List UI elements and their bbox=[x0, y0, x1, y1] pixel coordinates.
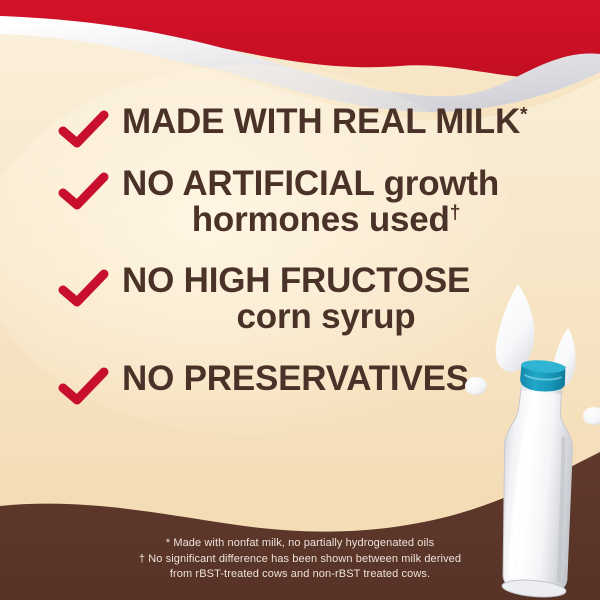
footnotes: * Made with nonfat milk, no partially hy… bbox=[0, 536, 600, 583]
promo-poster: MADE WITH REAL MILK* NO ARTIFICIAL growt… bbox=[0, 0, 600, 600]
check-icon bbox=[58, 104, 118, 150]
claim-line-2-text: hormones used bbox=[192, 200, 450, 239]
footnote-line-2: † No significant difference has been sho… bbox=[0, 552, 600, 568]
claim-line-1: MADE WITH REAL MILK* bbox=[122, 104, 600, 140]
footnote-marker-asterisk: * bbox=[520, 104, 527, 125]
check-icon bbox=[58, 166, 118, 212]
claim-line-2: hormones used† bbox=[122, 202, 600, 238]
claim-line-1: NO ARTIFICIAL growth bbox=[122, 166, 600, 202]
claim-item: MADE WITH REAL MILK* bbox=[0, 104, 600, 150]
footnote-marker-dagger: † bbox=[450, 202, 461, 223]
check-icon bbox=[58, 263, 118, 309]
claim-copy: MADE WITH REAL MILK* bbox=[118, 104, 600, 140]
footnote-line-3: from rBST-treated cows and non-rBST trea… bbox=[0, 567, 600, 583]
claim-item: NO ARTIFICIAL growth hormones used† bbox=[0, 166, 600, 237]
check-icon bbox=[58, 361, 118, 407]
claim-copy: NO ARTIFICIAL growth hormones used† bbox=[118, 166, 600, 237]
claim-line-1-text: MADE WITH REAL MILK bbox=[122, 102, 520, 141]
footnote-line-1: * Made with nonfat milk, no partially hy… bbox=[0, 536, 600, 552]
